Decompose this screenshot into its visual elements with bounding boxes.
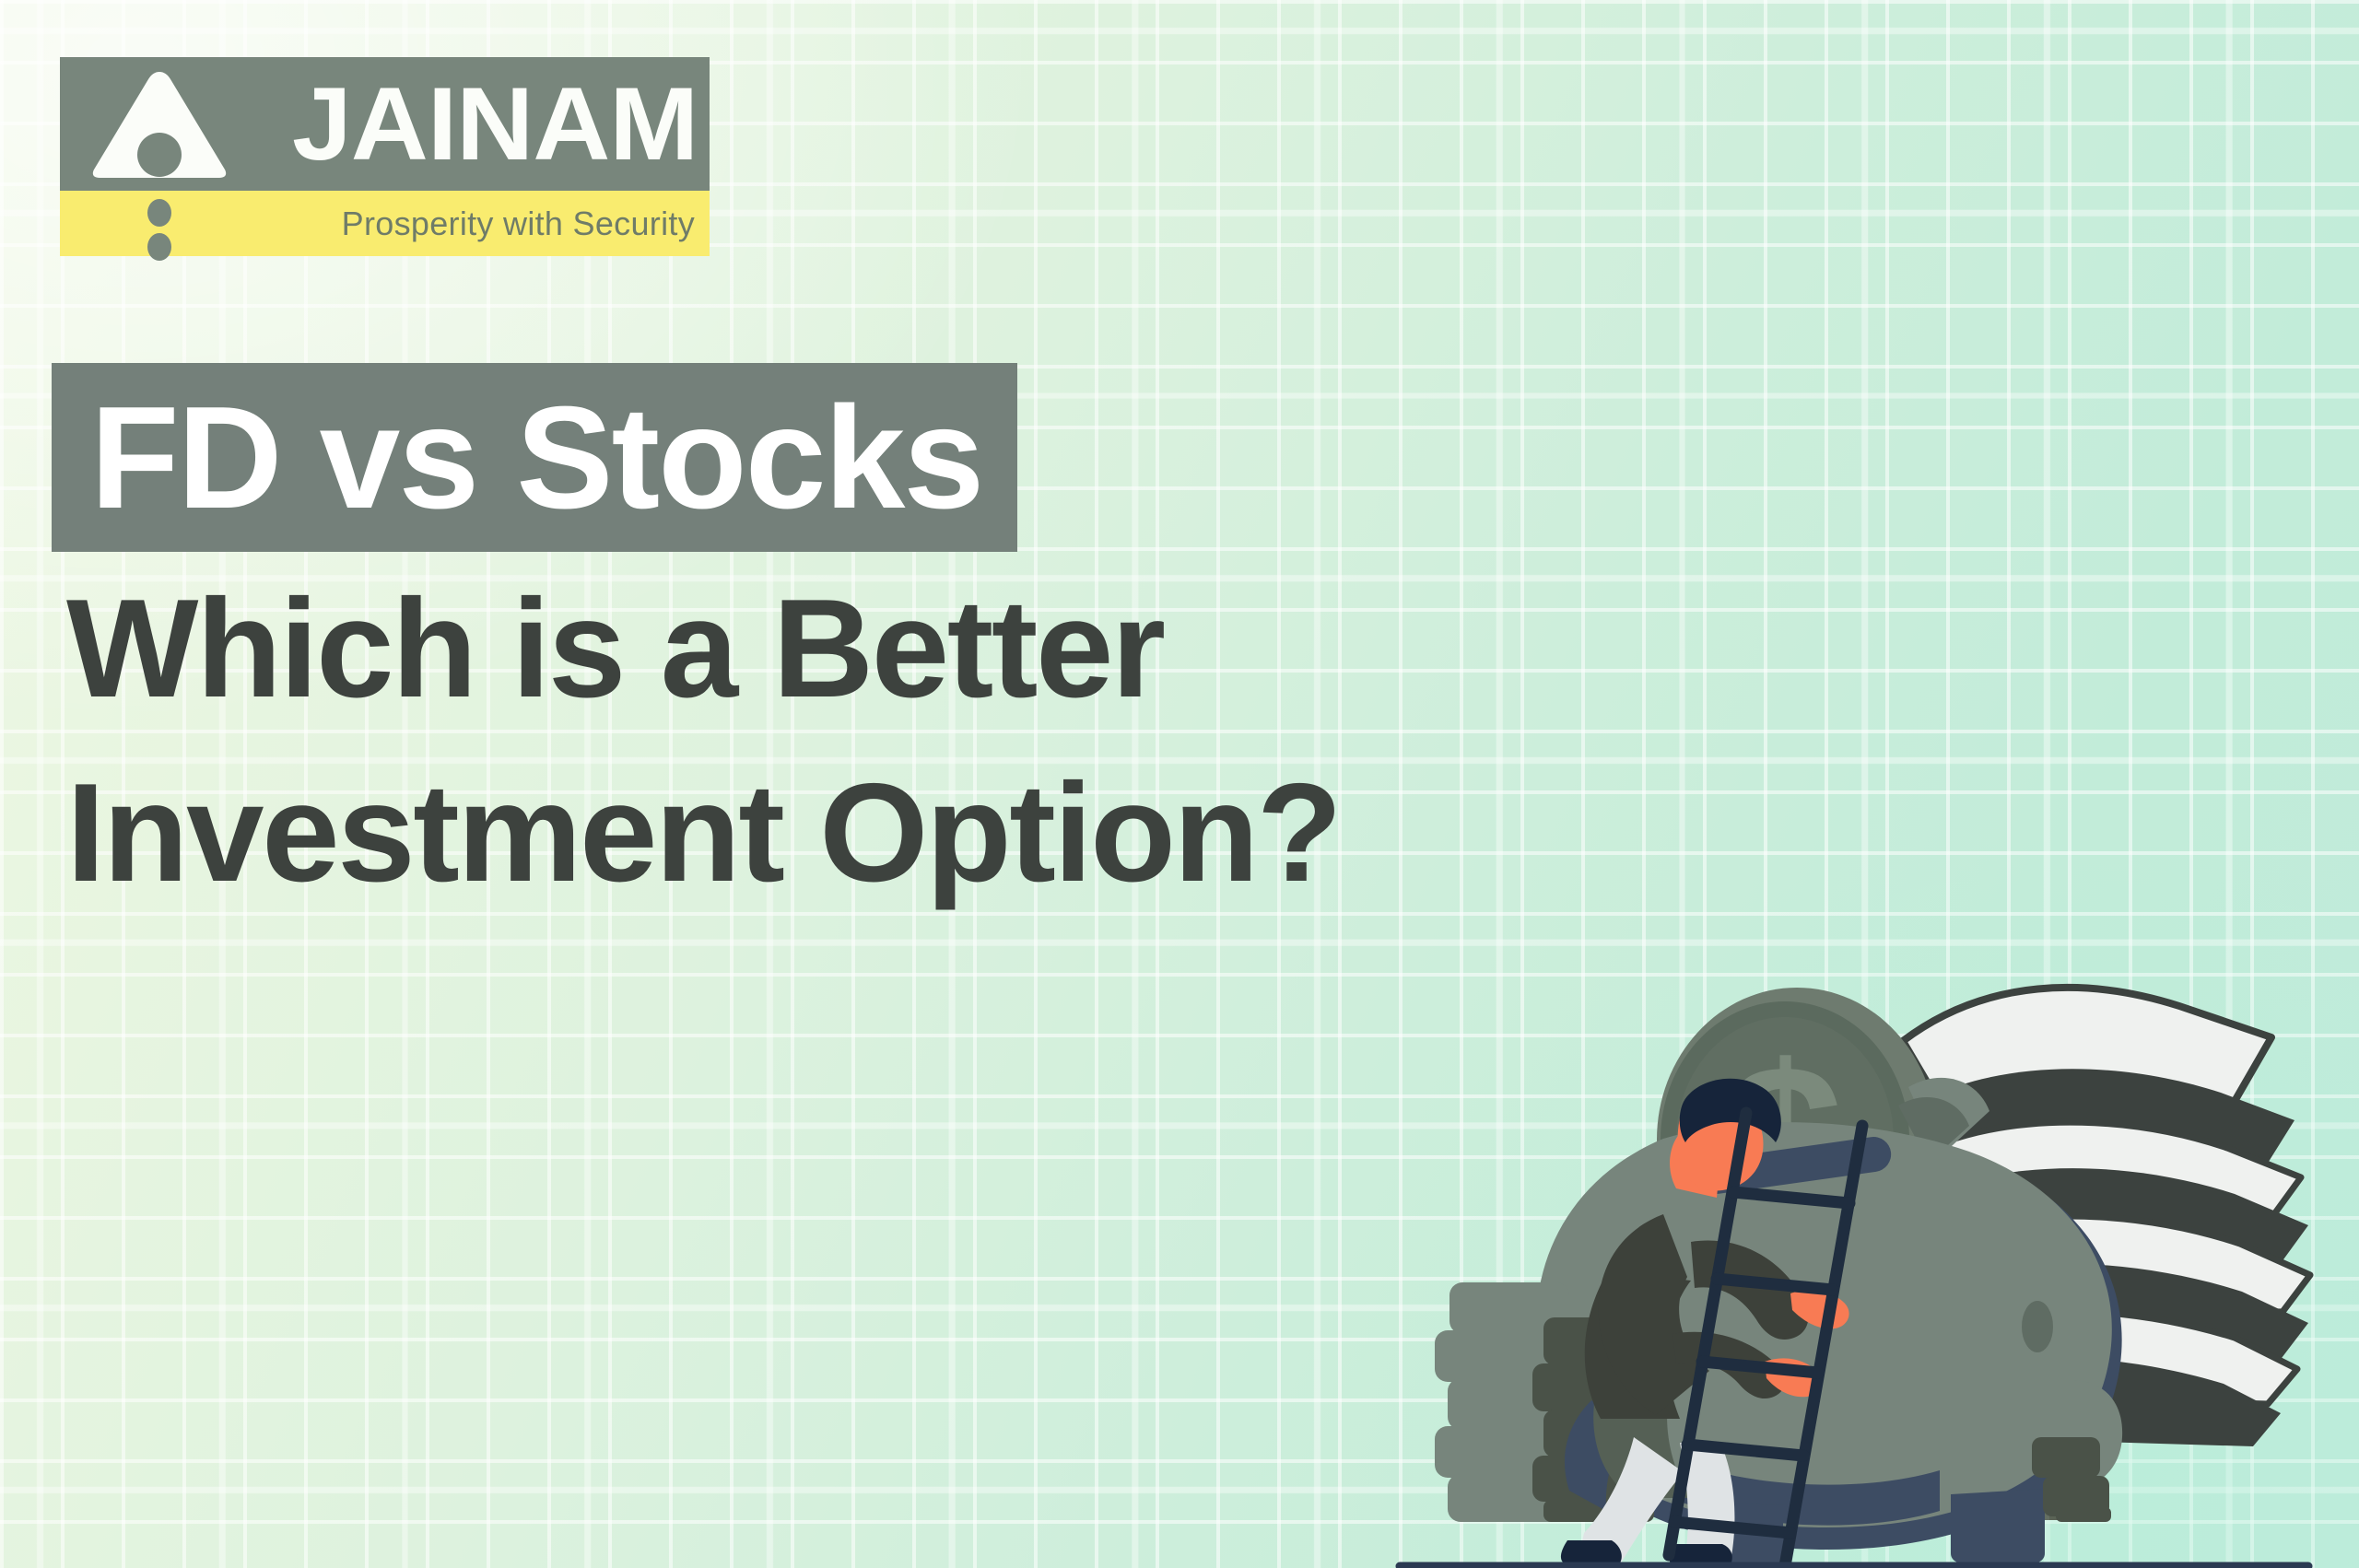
logo-word-block: JAINAM Prosperity with Security [268,57,710,256]
headline-highlight-band: FD vs Stocks [52,363,1017,552]
headline-highlight-text: FD vs Stocks [90,385,982,531]
logo-tagline: Prosperity with Security [342,207,695,240]
logo-brand-name: JAINAM [292,73,698,176]
illustration-man-climbing-ladder-to-piggy-bank: $ [1387,921,2359,1568]
poster-canvas: JAINAM Prosperity with Security FD vs St… [0,0,2359,1568]
logo-mark-block [60,57,259,256]
logo-tagline-row: Prosperity with Security [268,191,710,256]
logo-wordmark-row: JAINAM [268,57,710,191]
headline-subline-2: Investment Option? [66,763,1340,903]
logo-mark-top [60,57,259,191]
logo-dot-lower-icon [147,233,171,261]
logo-dot-upper-icon [147,199,171,227]
jainam-triangle-mark-icon [90,70,229,179]
logo-divider [259,57,268,256]
logo-mark-bottom [60,191,259,256]
brand-logo[interactable]: JAINAM Prosperity with Security [60,57,710,256]
headline-subline-1: Which is a Better [66,579,1164,719]
